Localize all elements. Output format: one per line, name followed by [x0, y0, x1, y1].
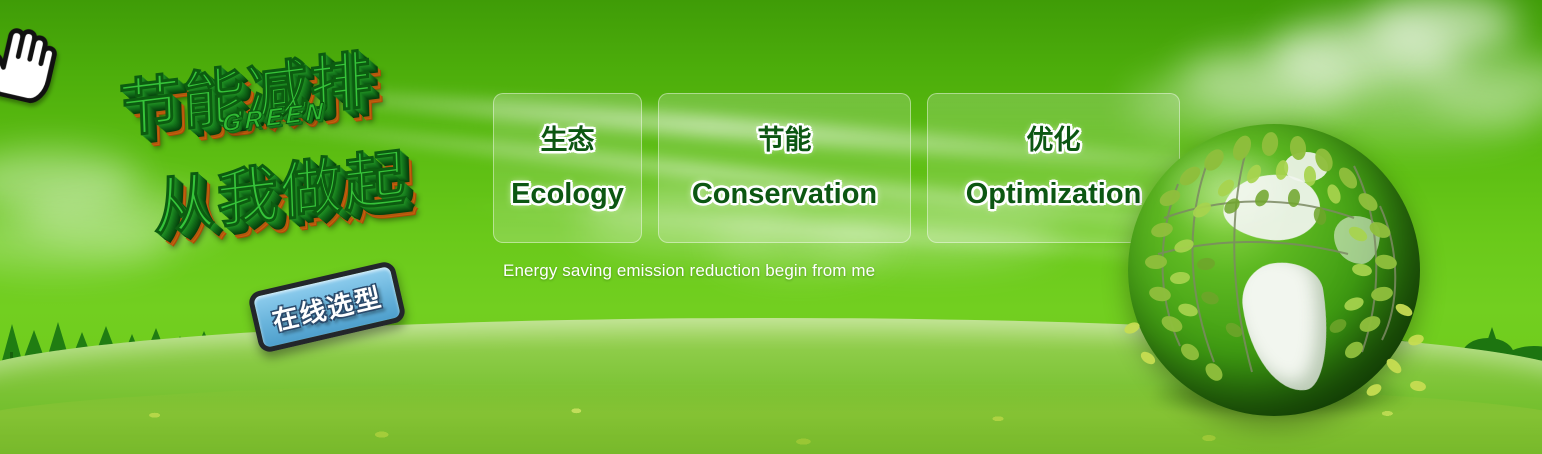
feature-card-row: 生态 Ecology 节能 Conservation 优化 Optimizati… — [493, 93, 1180, 243]
card-title-en: Conservation — [692, 180, 877, 209]
continent-africa — [1334, 216, 1380, 264]
hand-pointer-icon — [0, 15, 66, 108]
globe-highlight — [1154, 140, 1304, 236]
globe-sphere — [1128, 124, 1420, 416]
banner-tagline: Energy saving emission reduction begin f… — [503, 261, 875, 281]
card-title-en: Optimization — [966, 180, 1142, 209]
leafy-earth-globe — [1128, 124, 1428, 424]
feature-card-conservation[interactable]: 节能 Conservation — [658, 93, 911, 243]
feature-card-ecology[interactable]: 生态 Ecology — [493, 93, 642, 243]
card-title-cn: 节能 — [758, 127, 812, 154]
card-title-en: Ecology — [511, 180, 624, 209]
card-title-cn: 生态 — [541, 127, 595, 154]
eco-promo-banner: 节能减排 GREEN 从我做起 在线选型 生态 Ecology 节能 Conse… — [0, 0, 1542, 454]
card-title-cn: 优化 — [1027, 127, 1081, 154]
cloud-cluster-left — [0, 120, 270, 310]
continent-south-america — [1237, 257, 1336, 397]
